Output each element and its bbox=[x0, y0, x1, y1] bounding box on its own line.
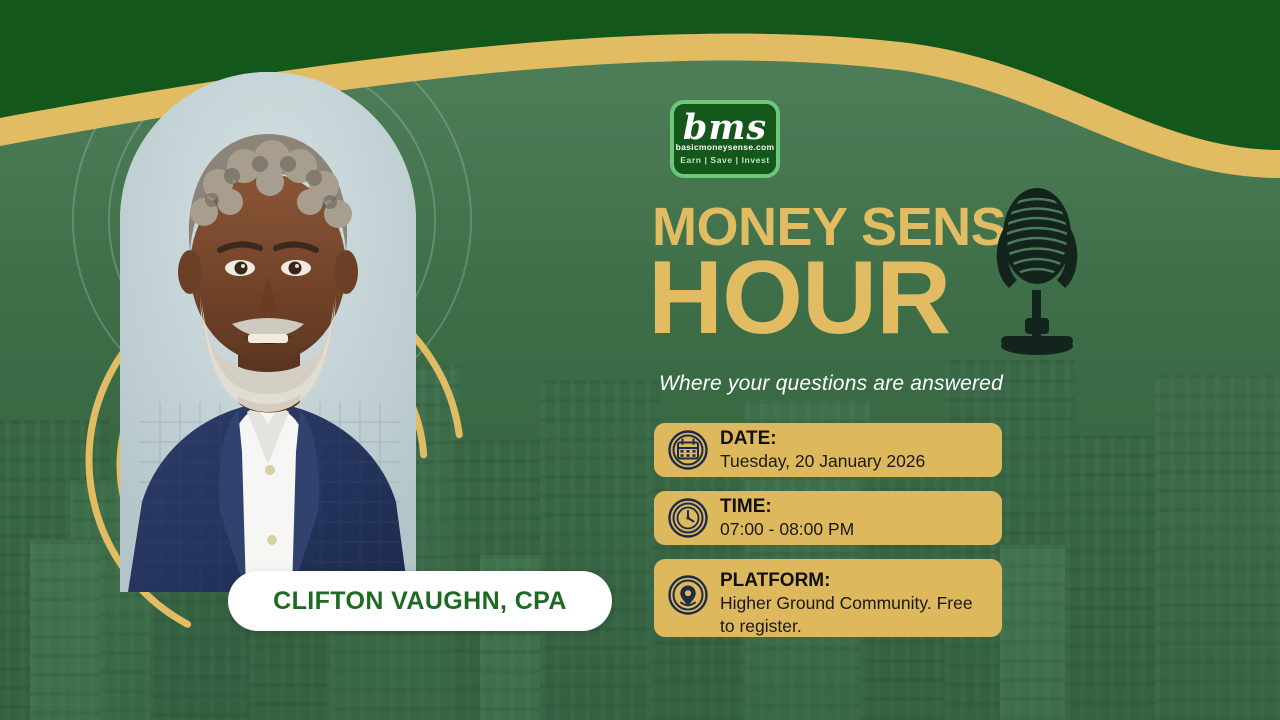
vintage-microphone-icon bbox=[985, 178, 1090, 358]
detail-label-platform: PLATFORM: bbox=[720, 570, 988, 592]
detail-card-date: DATE: Tuesday, 20 January 2026 bbox=[654, 423, 1002, 477]
calendar-icon bbox=[668, 430, 708, 470]
logo-website: basicmoneysense.com bbox=[676, 142, 775, 152]
detail-card-platform: PLATFORM: Higher Ground Community. Free … bbox=[654, 559, 1002, 637]
clock-icon bbox=[668, 498, 708, 538]
speaker-name-badge: CLIFTON VAUGHN, CPA bbox=[228, 571, 612, 631]
detail-value-platform: Higher Ground Community. Free to registe… bbox=[720, 592, 988, 637]
title-line-2: HOUR bbox=[648, 246, 950, 350]
subtitle-tagline: Where your questions are answered bbox=[659, 372, 1003, 396]
detail-value-date: Tuesday, 20 January 2026 bbox=[720, 450, 925, 472]
detail-label-time: TIME: bbox=[720, 496, 854, 518]
speaker-name: CLIFTON VAUGHN, CPA bbox=[273, 587, 567, 616]
speaker-photo bbox=[120, 72, 416, 592]
event-poster: CLIFTON VAUGHN, CPA bms basicmoneysense.… bbox=[0, 0, 1280, 720]
logo-tagline: Earn | Save | Invest bbox=[680, 155, 770, 165]
detail-card-time: TIME: 07:00 - 08:00 PM bbox=[654, 491, 1002, 545]
logo-wordmark: bms bbox=[683, 111, 767, 144]
bms-logo: bms basicmoneysense.com Earn | Save | In… bbox=[670, 100, 780, 178]
detail-value-time: 07:00 - 08:00 PM bbox=[720, 518, 854, 540]
location-pin-icon bbox=[668, 575, 708, 615]
detail-label-date: DATE: bbox=[720, 428, 925, 450]
speaker-portrait bbox=[120, 72, 416, 592]
